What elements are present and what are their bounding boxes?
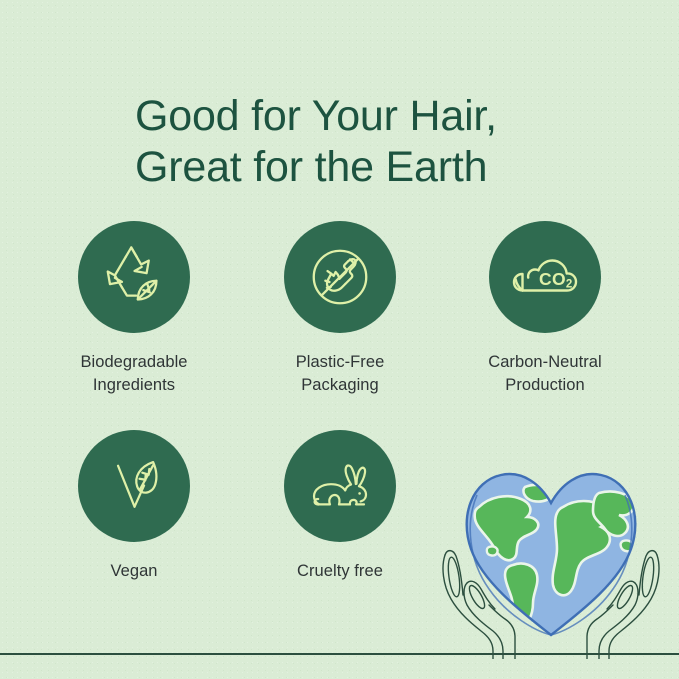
badge-vegan[interactable]: Vegan [78,430,190,583]
no-plastic-bottle-icon [305,242,375,312]
badge-label: Vegan [78,560,190,583]
badge-circle [78,221,190,333]
badge-label: Cruelty free [284,560,396,583]
baseline-rule [0,653,679,655]
badge-plastic-free-packaging[interactable]: Plastic-Free Packaging [284,221,396,397]
badge-circle [284,430,396,542]
vegan-leaf-v-icon [100,452,168,520]
badge-label: Plastic-Free Packaging [284,351,396,397]
rabbit-icon [304,450,376,522]
badge-circle [78,430,190,542]
co2-cloud-leaf-icon: CO2 [509,241,581,313]
recycle-leaf-icon [99,242,169,312]
badge-carbon-neutral-production[interactable]: CO2 Carbon-Neutral Production [489,221,601,397]
badge-label: Biodegradable Ingredients [78,351,190,397]
co2-subscript: 2 [566,279,573,291]
badge-label: Carbon-Neutral Production [470,351,620,397]
landmass-island-west [487,546,498,555]
landmass-greenland [523,485,551,502]
badge-circle: CO2 [489,221,601,333]
badge-cruelty-free[interactable]: Cruelty free [284,430,396,583]
badge-circle [284,221,396,333]
hands-holding-heart-earth-illustration [437,437,665,659]
page-title: Good for Your Hair, Great for the Earth [135,91,655,193]
badge-biodegradable-ingredients[interactable]: Biodegradable Ingredients [78,221,190,397]
poster-canvas: Good for Your Hair, Great for the Earth [0,0,679,679]
